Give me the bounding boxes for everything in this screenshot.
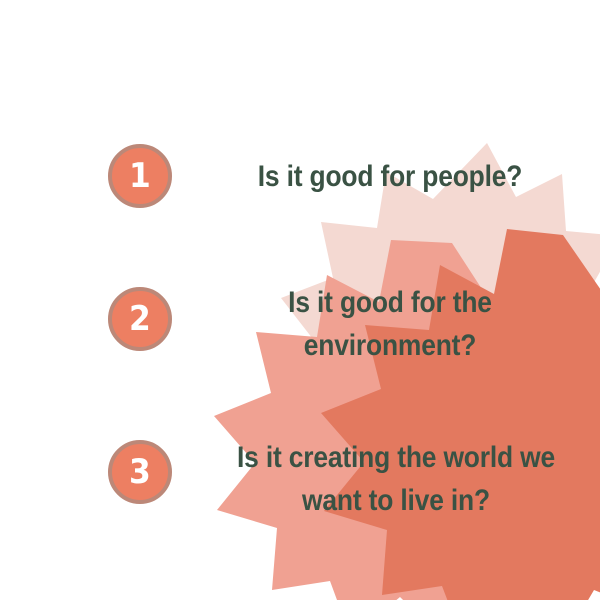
- question-text-1: Is it good for people?: [223, 156, 557, 199]
- graphic-canvas: 1 Is it good for people? 2 Is it good fo…: [0, 0, 600, 600]
- step-number-badge-1: 1: [108, 144, 172, 208]
- question-list: 1 Is it good for people? 2 Is it good fo…: [0, 0, 600, 600]
- question-text-3: Is it creating the world we want to live…: [220, 437, 572, 522]
- step-number-badge-3: 3: [108, 440, 172, 504]
- step-number-badge-2: 2: [108, 287, 172, 351]
- step-number-label: 2: [129, 302, 151, 336]
- step-number-label: 3: [129, 455, 151, 489]
- step-number-label: 1: [129, 159, 151, 193]
- question-text-2: Is it good for the environment?: [223, 282, 557, 367]
